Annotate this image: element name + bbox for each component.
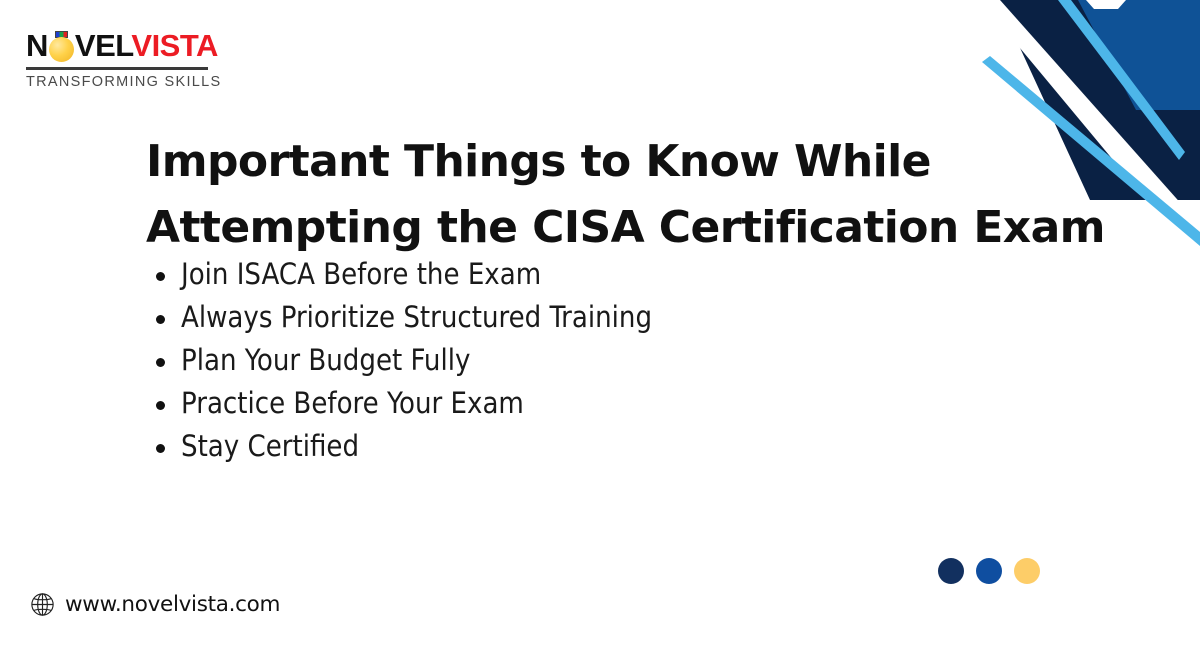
logo-divider <box>26 67 208 70</box>
list-item: Practice Before Your Exam <box>150 387 652 420</box>
lightbulb-icon <box>49 31 74 62</box>
lightbulb-globe <box>49 37 74 62</box>
page-title: Important Things to Know While Attemptin… <box>146 129 1136 261</box>
list-item: Always Prioritize Structured Training <box>150 301 652 334</box>
website-url[interactable]: www.novelvista.com <box>65 592 280 617</box>
dot-blue <box>976 558 1002 584</box>
list-item-label: Stay Certified <box>181 429 359 463</box>
key-points-list: Join ISACA Before the Exam Always Priori… <box>150 258 652 463</box>
dot-gold <box>1014 558 1040 584</box>
slide-canvas: NVELVISTA TRANSFORMING SKILLS Important … <box>0 0 1200 650</box>
list-item-label: Plan Your Budget Fully <box>181 343 470 377</box>
list-item: Plan Your Budget Fully <box>150 344 652 377</box>
list-item: Stay Certified <box>150 430 652 463</box>
brand-name-part2: VEL <box>75 28 132 63</box>
page-title-line-2: Attempting the CISA Certification Exam <box>146 195 1136 261</box>
globe-icon <box>30 592 55 617</box>
brand-logo[interactable]: NVELVISTA TRANSFORMING SKILLS <box>26 28 216 90</box>
decorative-dots <box>938 558 1040 584</box>
list-item-label: Practice Before Your Exam <box>181 386 524 420</box>
brand-wordmark: NVELVISTA <box>26 28 216 64</box>
list-item-label: Join ISACA Before the Exam <box>181 257 541 291</box>
brand-tagline: TRANSFORMING SKILLS <box>26 74 216 90</box>
page-title-line-1: Important Things to Know While <box>146 129 1136 195</box>
list-item: Join ISACA Before the Exam <box>150 258 652 291</box>
footer[interactable]: www.novelvista.com <box>30 592 280 617</box>
dot-navy <box>938 558 964 584</box>
brand-name-part3: VISTA <box>131 28 218 63</box>
decor-white-notch <box>1086 0 1126 9</box>
list-item-label: Always Prioritize Structured Training <box>181 300 652 334</box>
decor-blue-shape <box>1078 0 1200 110</box>
brand-name-part1: N <box>26 28 48 63</box>
